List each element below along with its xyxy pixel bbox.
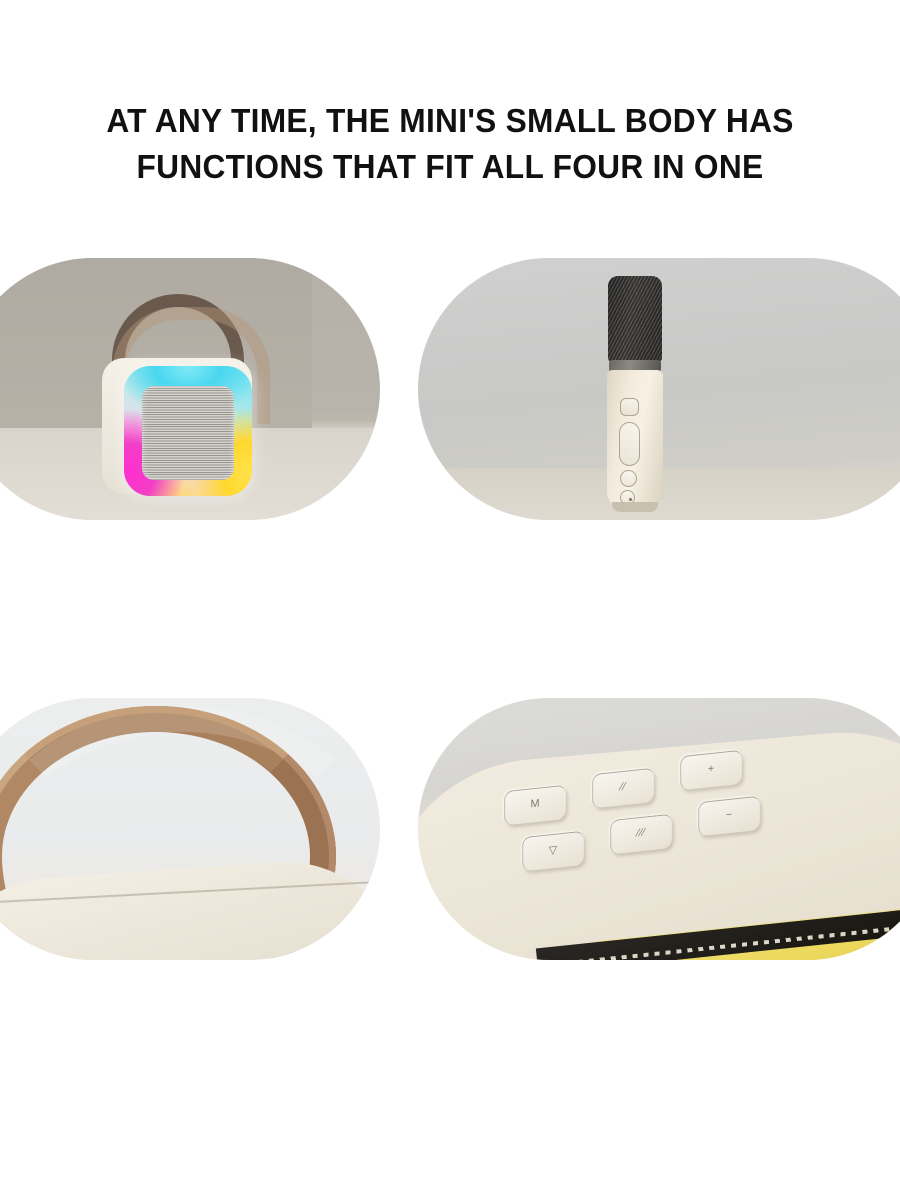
microphone-button-volume bbox=[619, 422, 640, 466]
product-photo-microphone bbox=[418, 258, 900, 520]
speaker-seam-line bbox=[0, 881, 376, 906]
feature-row-top: Mini audio High fidelity sound quality, … bbox=[0, 258, 900, 698]
microphone-indicator-dot bbox=[629, 498, 632, 501]
feature-card-grid: Mini audio High fidelity sound quality, … bbox=[0, 258, 900, 1168]
microphone-mesh-head bbox=[608, 276, 662, 362]
feature-row-bottom: TF Fine leather handle Get rid of tediou… bbox=[0, 698, 900, 1168]
control-button-3: + bbox=[680, 750, 742, 791]
control-button-6: − bbox=[698, 796, 760, 837]
page-title: AT ANY TIME, THE MINI'S SMALL BODY HAS F… bbox=[0, 0, 900, 190]
microphone-base bbox=[612, 502, 658, 512]
control-button-5: ⁄⁄⁄ bbox=[610, 814, 672, 855]
microphone-illustration bbox=[600, 276, 670, 508]
headline-line-1: AT ANY TIME, THE MINI'S SMALL BODY HAS bbox=[47, 98, 853, 144]
control-button-glyph: M bbox=[530, 798, 540, 811]
control-button-glyph: ⁄⁄ bbox=[621, 781, 627, 794]
control-button-glyph: + bbox=[708, 763, 715, 776]
control-button-2: ⁄⁄ bbox=[592, 768, 654, 809]
control-button-glyph: ▽ bbox=[549, 843, 558, 857]
feature-card-leather-handle: TF Fine leather handle Get rid of tediou… bbox=[0, 698, 380, 960]
rgb-light-ring bbox=[124, 366, 252, 496]
control-button-4: ▽ bbox=[522, 831, 584, 872]
microphone-button-top bbox=[620, 398, 639, 416]
product-photo-leather-handle: TF bbox=[0, 698, 380, 960]
feature-card-mini-audio: Mini audio High fidelity sound quality, … bbox=[0, 258, 380, 520]
product-photo-mini-speaker bbox=[0, 258, 380, 520]
speaker-grille bbox=[142, 386, 234, 480]
product-photo-control-buttons: M ⁄⁄ + ▽ ⁄⁄⁄ − bbox=[418, 698, 900, 960]
feature-card-mini-microphone: High configuration Mini microphone Pairi… bbox=[418, 258, 900, 520]
control-button-1: M bbox=[504, 785, 566, 826]
headline-line-2: FUNCTIONS THAT FIT ALL FOUR IN ONE bbox=[47, 144, 853, 190]
speaker-illustration bbox=[84, 294, 274, 504]
control-button-glyph: ⁄⁄⁄ bbox=[637, 827, 645, 840]
feature-card-easy-operate: M ⁄⁄ + ▽ ⁄⁄⁄ − bbox=[418, 698, 900, 960]
microphone-button-round-1 bbox=[620, 470, 637, 487]
control-button-glyph: − bbox=[726, 809, 733, 822]
